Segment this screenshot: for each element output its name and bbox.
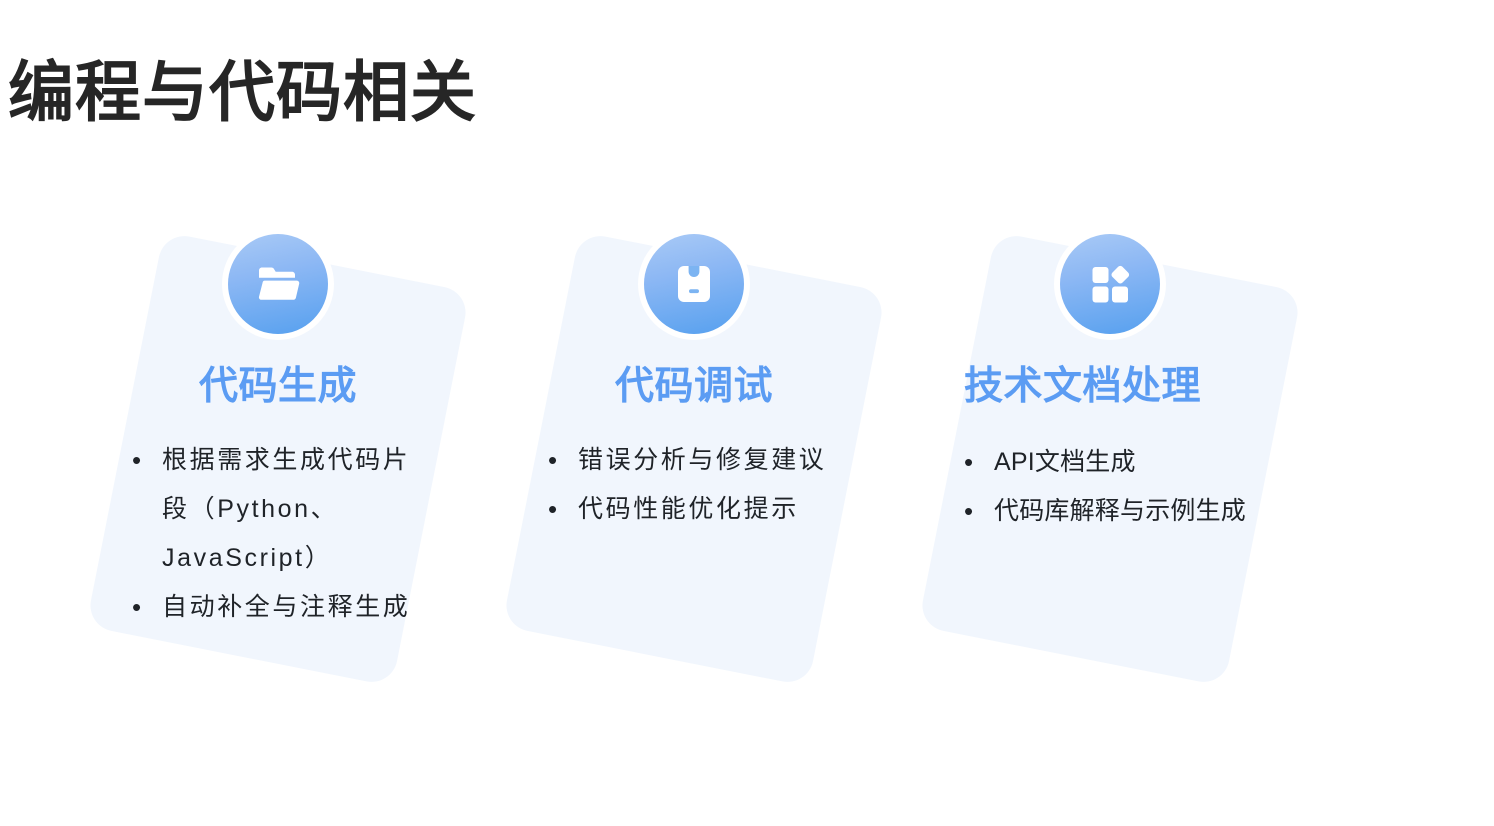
list-item-text: 错误分析与修复建议 — [578, 436, 850, 485]
card-bullet-list: • 根据需求生成代码片段（Python、JavaScript） • 自动补全与注… — [122, 436, 434, 632]
list-item-text: 代码库解释与示例生成 — [994, 487, 1266, 536]
list-item-text: 代码性能优化提示 — [578, 485, 850, 534]
list-item: • 代码性能优化提示 — [538, 485, 850, 534]
card-bullet-list: • 错误分析与修复建议 • 代码性能优化提示 — [538, 436, 850, 534]
clipboard-smile-icon — [644, 234, 744, 334]
card-title: 代码调试 — [538, 363, 850, 411]
bullet-marker-icon: • — [130, 436, 162, 485]
list-item: • 根据需求生成代码片段（Python、JavaScript） — [122, 436, 434, 583]
slide-canvas: 编程与代码相关 代码生成 • 根据需求生成代码片段（Python、JavaScr… — [0, 0, 1494, 826]
card-title: 代码生成 — [122, 363, 434, 411]
list-item-text: 自动补全与注释生成 — [162, 583, 434, 632]
list-item: • API文档生成 — [954, 438, 1266, 487]
card-content: 代码生成 • 根据需求生成代码片段（Python、JavaScript） • 自… — [122, 258, 434, 660]
feature-card-group: 代码生成 • 根据需求生成代码片段（Python、JavaScript） • 自… — [0, 0, 1494, 826]
bullet-marker-icon: • — [546, 436, 578, 485]
card-title: 技术文档处理 — [954, 363, 1266, 411]
bullet-marker-icon: • — [962, 438, 994, 487]
bullet-marker-icon: • — [962, 487, 994, 536]
list-item-text: 根据需求生成代码片段（Python、JavaScript） — [162, 436, 434, 583]
blocks-grid-icon — [1060, 234, 1160, 334]
feature-card-code-debugging[interactable]: 代码调试 • 错误分析与修复建议 • 代码性能优化提示 — [538, 258, 850, 660]
feature-card-code-generation[interactable]: 代码生成 • 根据需求生成代码片段（Python、JavaScript） • 自… — [122, 258, 434, 660]
open-folder-icon — [228, 234, 328, 334]
card-content: 代码调试 • 错误分析与修复建议 • 代码性能优化提示 — [538, 258, 850, 660]
list-item: • 代码库解释与示例生成 — [954, 487, 1266, 536]
feature-card-tech-docs[interactable]: 技术文档处理 • API文档生成 • 代码库解释与示例生成 — [954, 258, 1266, 660]
bullet-marker-icon: • — [130, 583, 162, 632]
card-content: 技术文档处理 • API文档生成 • 代码库解释与示例生成 — [954, 258, 1266, 660]
bullet-marker-icon: • — [546, 485, 578, 534]
card-bullet-list: • API文档生成 • 代码库解释与示例生成 — [954, 438, 1266, 536]
list-item-text: API文档生成 — [994, 438, 1266, 487]
list-item: • 自动补全与注释生成 — [122, 583, 434, 632]
list-item: • 错误分析与修复建议 — [538, 436, 850, 485]
